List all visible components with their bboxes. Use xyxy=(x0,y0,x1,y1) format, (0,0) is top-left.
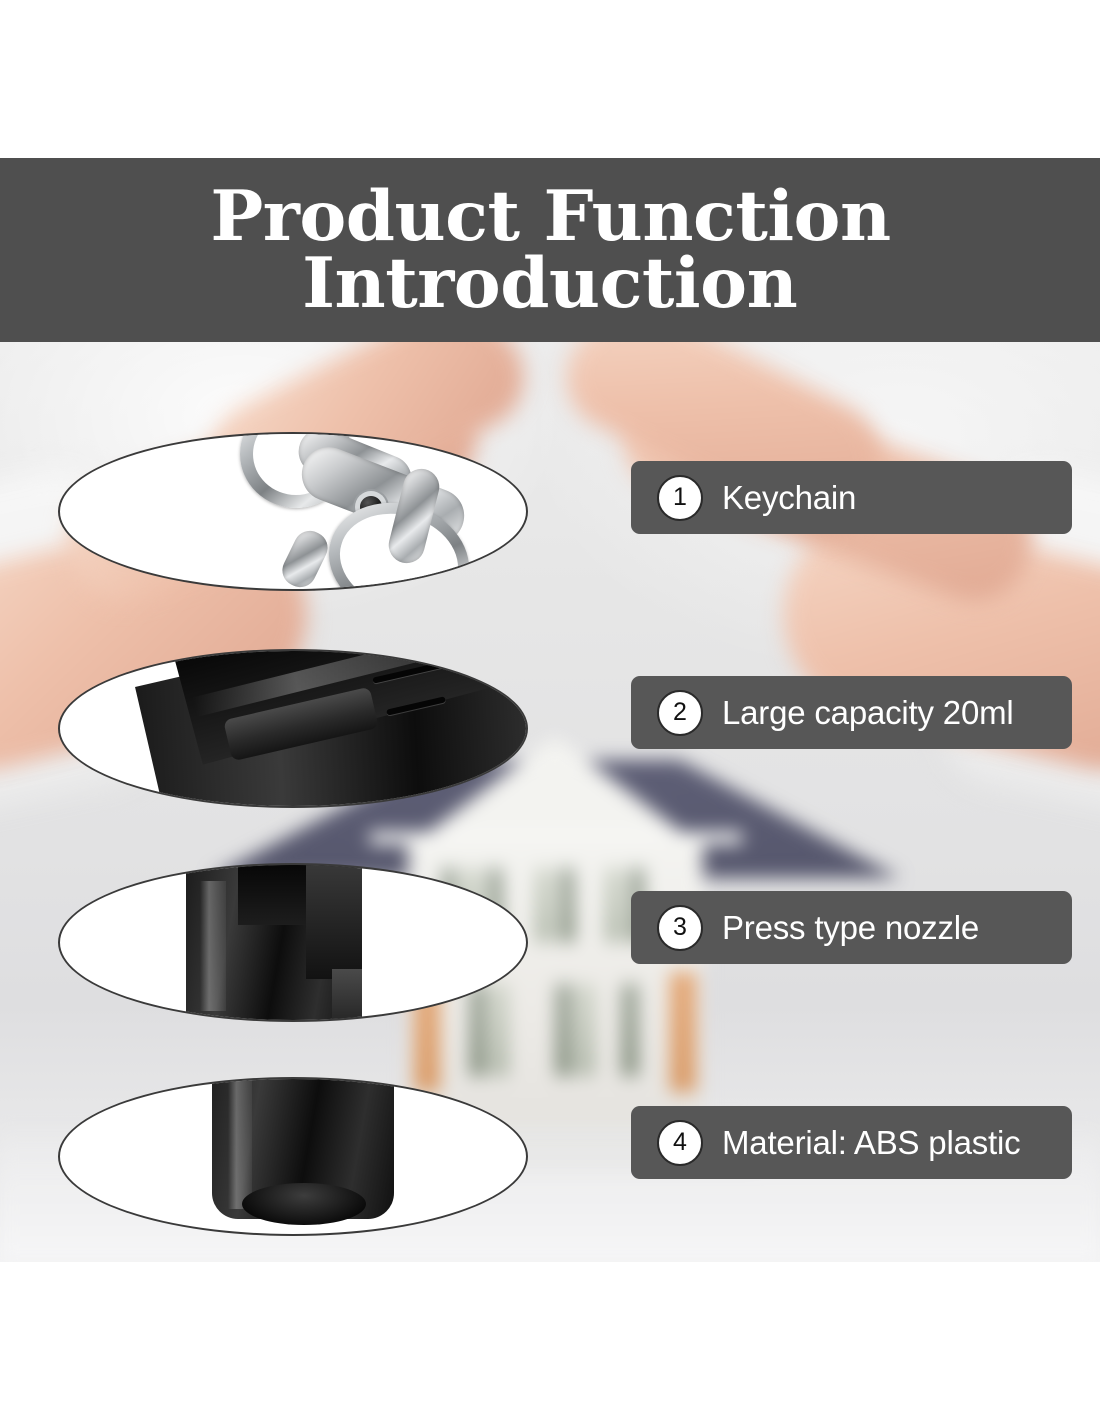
house-window xyxy=(622,984,638,1076)
feature-label-text-1: Keychain xyxy=(722,479,856,517)
feature-image-oval-1 xyxy=(58,432,528,591)
clasp-gate-lever xyxy=(277,525,333,591)
feature-label-text-3: Press type nozzle xyxy=(722,909,979,947)
nozzle-shoulder xyxy=(332,969,362,1022)
feature-label-1[interactable]: 1 Keychain xyxy=(631,461,1072,534)
bottle-body-photo xyxy=(60,651,526,806)
product-infographic: Product Function Introduction xyxy=(0,0,1100,1422)
feature-image-oval-3 xyxy=(58,863,528,1022)
nozzle-side-wall xyxy=(306,863,362,979)
page-title-line-2: Introduction xyxy=(302,251,797,318)
feature-number-badge-3: 3 xyxy=(657,905,703,951)
feature-image-oval-2 xyxy=(58,649,528,808)
bottle-base-highlight xyxy=(228,1077,252,1209)
nozzle-photo xyxy=(60,865,526,1020)
house-window xyxy=(560,868,574,942)
feature-label-4[interactable]: 4 Material: ABS plastic xyxy=(631,1106,1072,1179)
keychain-photo xyxy=(60,434,526,589)
house-window xyxy=(556,984,572,1076)
house-column xyxy=(670,972,696,1092)
page-title-line-1: Product Function xyxy=(210,184,890,251)
nozzle-highlight xyxy=(200,881,226,1011)
feature-number-badge-1: 1 xyxy=(657,475,703,521)
house-window xyxy=(536,868,552,942)
feature-label-3[interactable]: 3 Press type nozzle xyxy=(631,891,1072,964)
feature-number-badge-4: 4 xyxy=(657,1120,703,1166)
bottle-base-photo xyxy=(60,1079,526,1234)
feature-image-oval-4 xyxy=(58,1077,528,1236)
bottle-base-bottom xyxy=(242,1183,366,1225)
feature-label-2[interactable]: 2 Large capacity 20ml xyxy=(631,676,1072,749)
feature-label-text-2: Large capacity 20ml xyxy=(722,694,1014,732)
house-window xyxy=(578,984,594,1076)
title-banner: Product Function Introduction xyxy=(0,158,1100,342)
house-window xyxy=(606,868,622,942)
feature-number-badge-2: 2 xyxy=(657,690,703,736)
feature-label-text-4: Material: ABS plastic xyxy=(722,1124,1020,1162)
